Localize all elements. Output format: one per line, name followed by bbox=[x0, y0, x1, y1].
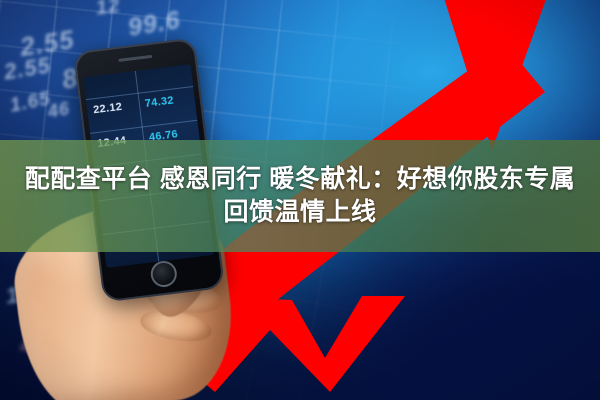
headline-line-1: 配配查平台 感恩同行 暖冬献礼：好想你股东专属 bbox=[25, 166, 575, 194]
quote-value: 74.32 bbox=[144, 95, 174, 110]
phone-speaker bbox=[118, 55, 152, 62]
headline-block: 配配查平台 感恩同行 暖冬献礼：好想你股东专属 回馈温情上线 bbox=[0, 140, 600, 252]
quote-label: 22.12 bbox=[93, 101, 123, 116]
headline-line-2: 回馈温情上线 bbox=[223, 199, 376, 227]
banner-image: 2.55 99.6 83.5 12 1.65 46 2.55 79.0 99 4… bbox=[0, 0, 600, 400]
phone-home-button bbox=[149, 259, 178, 288]
